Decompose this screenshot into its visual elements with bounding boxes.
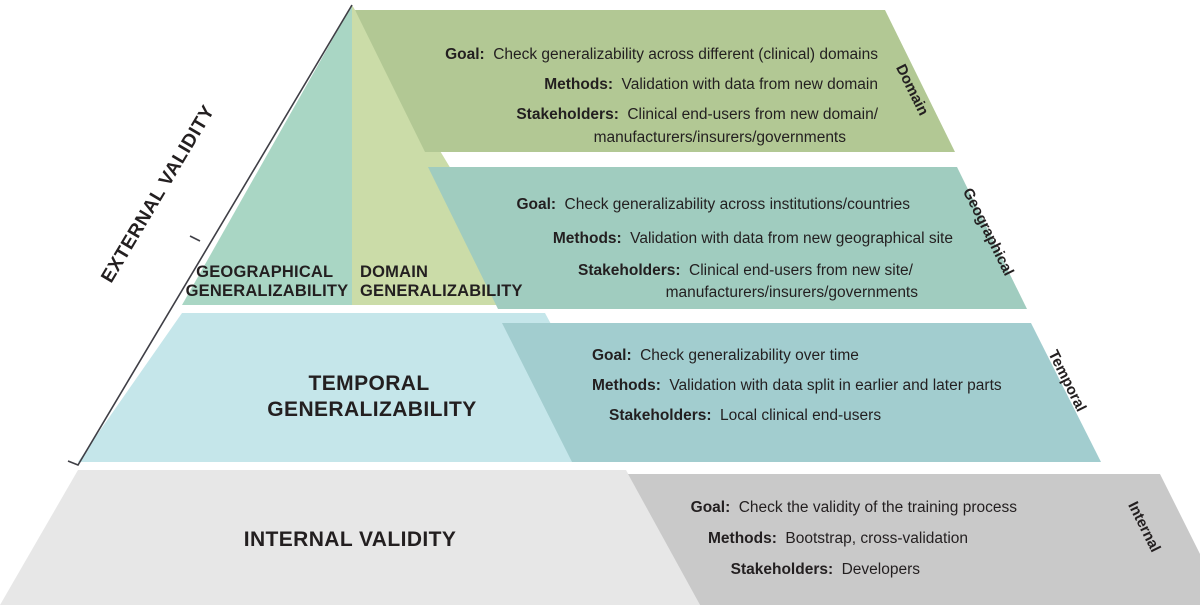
- detail-methods-geographical: Methods: Validation with data from new g…: [553, 230, 953, 247]
- detail-stakeholders-temporal: Stakeholders: Local clinical end-users: [609, 407, 881, 424]
- pyramid-label-internal: INTERNAL VALIDITY: [244, 528, 457, 551]
- detail-stakeholders-internal: Stakeholders: Developers: [731, 561, 921, 578]
- pyramid-layer-geographical: [182, 5, 352, 305]
- detail-stakeholders-domain: Stakeholders: Clinical end-users from ne…: [516, 106, 878, 123]
- detail-goal-internal: Goal: Check the validity of the training…: [691, 499, 1018, 516]
- validity-pyramid-diagram: EXTERNAL VALIDITY GEOGRAPHICAL GENERALIZ…: [0, 0, 1200, 605]
- detail-goal-geographical: Goal: Check generalizability across inst…: [516, 196, 910, 213]
- diagram-canvas: EXTERNAL VALIDITY GEOGRAPHICAL GENERALIZ…: [0, 0, 1200, 605]
- detail-methods-internal: Methods: Bootstrap, cross-validation: [708, 530, 968, 547]
- pyramid-label-geographical: GEOGRAPHICAL GENERALIZABILITY: [186, 263, 349, 300]
- detail-stakeholders-domain-cont: manufacturers/insurers/governments: [594, 129, 847, 146]
- detail-goal-temporal: Goal: Check generalizability over time: [592, 347, 859, 364]
- detail-goal-domain: Goal: Check generalizability across diff…: [445, 46, 878, 63]
- detail-stakeholders-geographical-cont: manufacturers/insurers/governments: [666, 284, 919, 301]
- detail-stakeholders-geographical: Stakeholders: Clinical end-users from ne…: [578, 262, 914, 279]
- external-validity-bracket-tick: [190, 236, 200, 241]
- detail-methods-domain: Methods: Validation with data from new d…: [544, 76, 878, 93]
- detail-methods-temporal: Methods: Validation with data split in e…: [592, 377, 1002, 394]
